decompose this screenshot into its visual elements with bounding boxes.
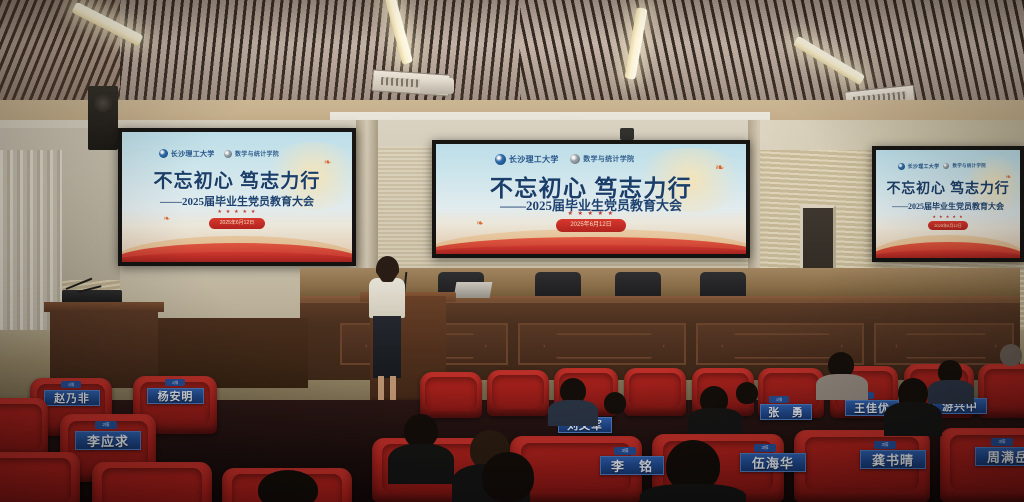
seat-cushion xyxy=(629,373,681,409)
audience-shoulders-7 xyxy=(884,402,942,436)
bird-icon-center-2: ❧ xyxy=(476,219,484,228)
university-logo-mark-icon xyxy=(495,154,506,165)
audience-head-12 xyxy=(736,382,758,404)
screen-date-badge-center: 2025年6月12日 xyxy=(556,219,626,232)
university-logo-mark-icon xyxy=(898,163,905,170)
seat-7-nameplate: 张 勇 xyxy=(760,404,812,420)
seat-1-nameplate: 赵乃非 xyxy=(44,390,100,406)
university-logo-left: 长沙理工大学 xyxy=(159,149,215,159)
led-screen-left: 长沙理工大学 数学与统计学院 不忘初心 笃志力行 ——2025届毕业生党员教育大… xyxy=(118,128,356,266)
audience-shoulders-8 xyxy=(928,380,974,404)
seat-cushion xyxy=(425,377,477,411)
screen-title-left: 不忘初心 笃志力行 xyxy=(122,166,352,193)
bird-icon-center-1: ❧ xyxy=(715,163,724,174)
screen-content-left: 长沙理工大学 数学与统计学院 不忘初心 笃志力行 ——2025届毕业生党员教育大… xyxy=(122,132,352,262)
university-logo-center: 长沙理工大学 xyxy=(495,154,559,165)
bird-icon-left-1: ❧ xyxy=(324,158,332,167)
bird-icon-right-1: ❧ xyxy=(1006,174,1012,181)
seat-3-row-tag: 2排 xyxy=(95,421,117,429)
seat-7-row-tag: 1排 xyxy=(769,396,789,403)
seat-2-row-tag: 1排 xyxy=(165,379,185,386)
seat-6-nameplate: 伍海华 xyxy=(740,453,806,472)
camera-icon xyxy=(620,128,634,140)
led-screen-right: 长沙理工大学 数学与统计学院 不忘初心 笃志力行 ——2025届毕业生党员教育大… xyxy=(872,146,1024,262)
table-panel-4 xyxy=(874,323,1014,365)
audience-head-11 xyxy=(604,392,626,414)
screen-logos-right: 长沙理工大学 数学与统计学院 xyxy=(898,163,999,170)
audience-shoulders-4 xyxy=(640,484,746,502)
school-logo-mark-icon xyxy=(224,150,232,158)
school-logo-mark-icon xyxy=(943,163,949,169)
bird-icon-left-2: ❧ xyxy=(163,215,170,223)
speaker-body xyxy=(369,278,405,318)
school-logo-mark-icon xyxy=(570,154,580,164)
audience-head-9 xyxy=(482,452,534,502)
seat-cushion xyxy=(0,458,71,502)
screen-logos-left: 长沙理工大学 数学与统计学院 xyxy=(159,149,315,159)
screen-content-right: 长沙理工大学 数学与统计学院 不忘初心 笃志力行 ——2025届毕业生党员教育大… xyxy=(876,150,1020,258)
head-table-chair-2 xyxy=(535,272,581,298)
audience-shoulders-1 xyxy=(388,444,454,484)
seat-3-nameplate: 李应求 xyxy=(75,431,141,450)
auditorium-photo: 长沙理工大学 数学与统计学院 不忘初心 笃志力行 ——2025届毕业生党员教育大… xyxy=(0,0,1024,502)
seat-edge-left-1[interactable] xyxy=(0,398,48,460)
screen-stars-left: ★ ★ ★ ★ ★ xyxy=(122,209,352,215)
table-panel-2 xyxy=(518,323,686,365)
screen-subtitle-right: ——2025届毕业生党员教育大会 xyxy=(876,201,1020,212)
audience-shoulders-5 xyxy=(688,408,742,434)
seat-1-row-tag: 1排 xyxy=(61,381,81,388)
ceiling-projector-icon xyxy=(420,78,454,94)
school-logo-right: 数学与统计学院 xyxy=(943,163,986,169)
screen-date-badge-right: 2025年6月12日 xyxy=(928,221,968,230)
screen-stars-right: ★ ★ ★ ★ ★ xyxy=(876,214,1020,219)
screen-content-center: 长沙理工大学 数学与统计学院 不忘初心 笃志力行 ——2025届毕业生党员教育大… xyxy=(436,144,746,254)
wall-speaker-icon xyxy=(88,86,118,150)
audience-head-1 xyxy=(404,414,438,448)
seat-11-row-tag: 3排 xyxy=(991,438,1013,446)
screen-date-badge-left: 2025年6月12日 xyxy=(209,218,265,229)
seat-11-nameplate: 周满岳 xyxy=(975,447,1024,466)
screen-subtitle-left: ——2025届毕业生党员教育大会 xyxy=(122,193,352,209)
screen-title-right: 不忘初心 笃志力行 xyxy=(876,178,1020,198)
audience-shoulders-3 xyxy=(548,400,598,426)
head-table-chair-4 xyxy=(700,272,746,298)
audience-shoulders-6 xyxy=(816,374,868,400)
audience-head-10 xyxy=(258,470,318,502)
speaker-skirt xyxy=(373,316,401,378)
seat-cushion xyxy=(984,369,1024,409)
seat-2-nameplate: 杨安明 xyxy=(147,388,204,404)
seat-edge-left-2[interactable] xyxy=(0,452,80,502)
seat-5-nameplate: 李 铭 xyxy=(600,456,664,475)
seat-edge-left-3[interactable] xyxy=(92,462,212,502)
laptop-on-table xyxy=(454,282,493,298)
seat-5-row-tag: 3排 xyxy=(614,447,636,455)
screen-logos-center: 长沙理工大学 数学与统计学院 xyxy=(495,154,687,165)
seat-mid-a2[interactable] xyxy=(487,370,549,416)
screen-stars-center: ★ ★ ★ ★ ★ xyxy=(436,210,746,217)
seat-mid-a4[interactable] xyxy=(624,368,686,416)
seat-mid-a1[interactable] xyxy=(420,372,482,418)
school-logo-left: 数学与统计学院 xyxy=(224,149,279,158)
led-screen-center: 长沙理工大学 数学与统计学院 不忘初心 笃志力行 ——2025届毕业生党员教育大… xyxy=(432,140,750,258)
university-logo-mark-icon xyxy=(159,149,168,158)
seat-cushion xyxy=(492,375,544,409)
audience-head-13 xyxy=(1000,344,1022,366)
seat-6-row-tag: 3排 xyxy=(754,444,776,452)
school-logo-center: 数学与统计学院 xyxy=(570,154,634,164)
seat-cushion xyxy=(0,404,42,450)
university-logo-right: 长沙理工大学 xyxy=(898,163,940,170)
head-table-chair-3 xyxy=(615,272,661,298)
seat-cushion xyxy=(102,468,203,502)
seat-10-row-tag: 3排 xyxy=(874,441,896,449)
ceiling-slats-right xyxy=(520,0,1024,108)
seat-10-nameplate: 龚书晴 xyxy=(860,450,926,469)
